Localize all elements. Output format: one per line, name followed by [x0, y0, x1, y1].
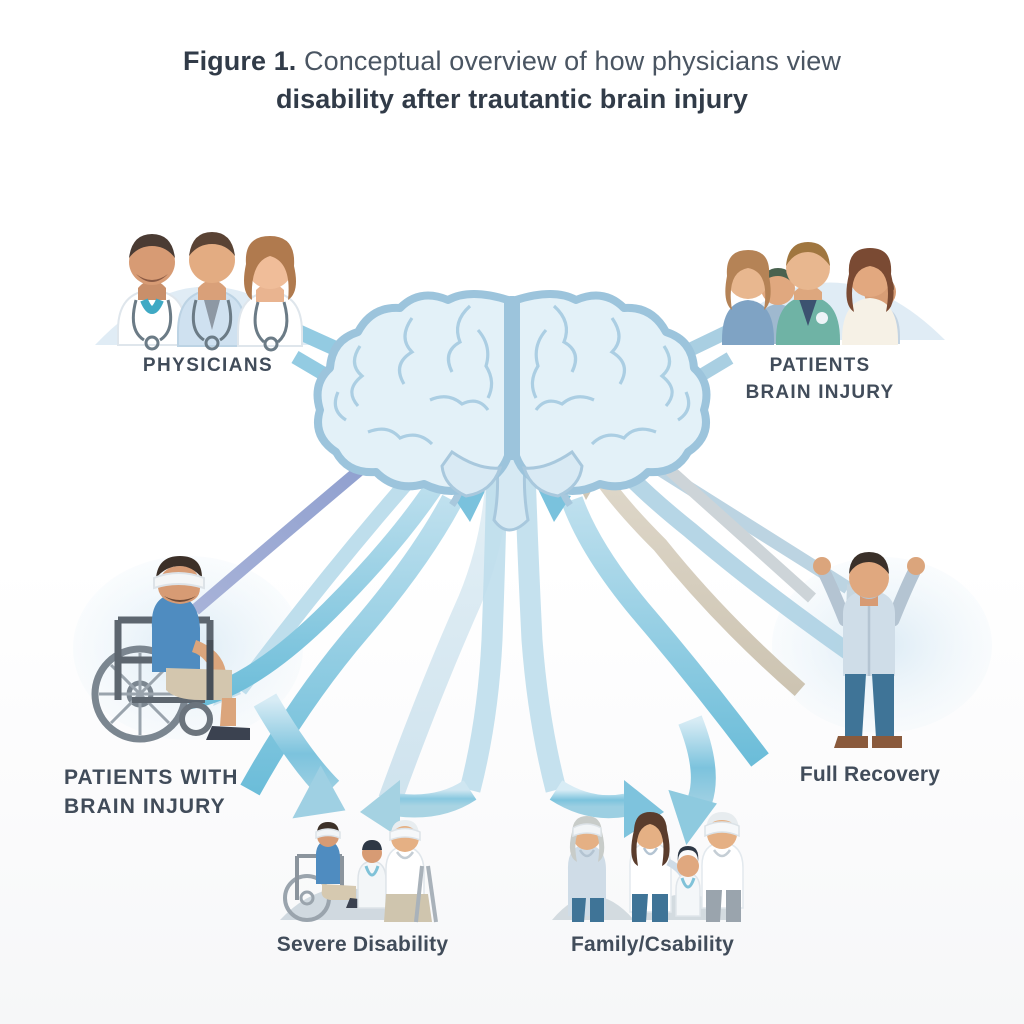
- disabled-group-illustration: [280, 820, 436, 922]
- three-doctors-illustration: [118, 232, 302, 350]
- label-physicians: PHYSICIANS: [78, 355, 338, 377]
- figure-root: Figure 1. Conceptual overview of how phy…: [0, 0, 1024, 1024]
- label-full-recovery: Full Recovery: [740, 763, 1000, 787]
- label-patients-brain-injury-top: PATIENTS BRAIN INJURY: [700, 352, 940, 406]
- label-family-csability: Family/Csability: [515, 933, 790, 957]
- family-group-illustration: [552, 812, 743, 922]
- label-severe-disability: Severe Disability: [225, 933, 500, 957]
- diagram-canvas: [0, 0, 1024, 1024]
- patient-family-group-illustration: [722, 242, 900, 345]
- label-patients-with-brain-injury: PATIENTS WITH BRAIN INJURY: [64, 763, 344, 821]
